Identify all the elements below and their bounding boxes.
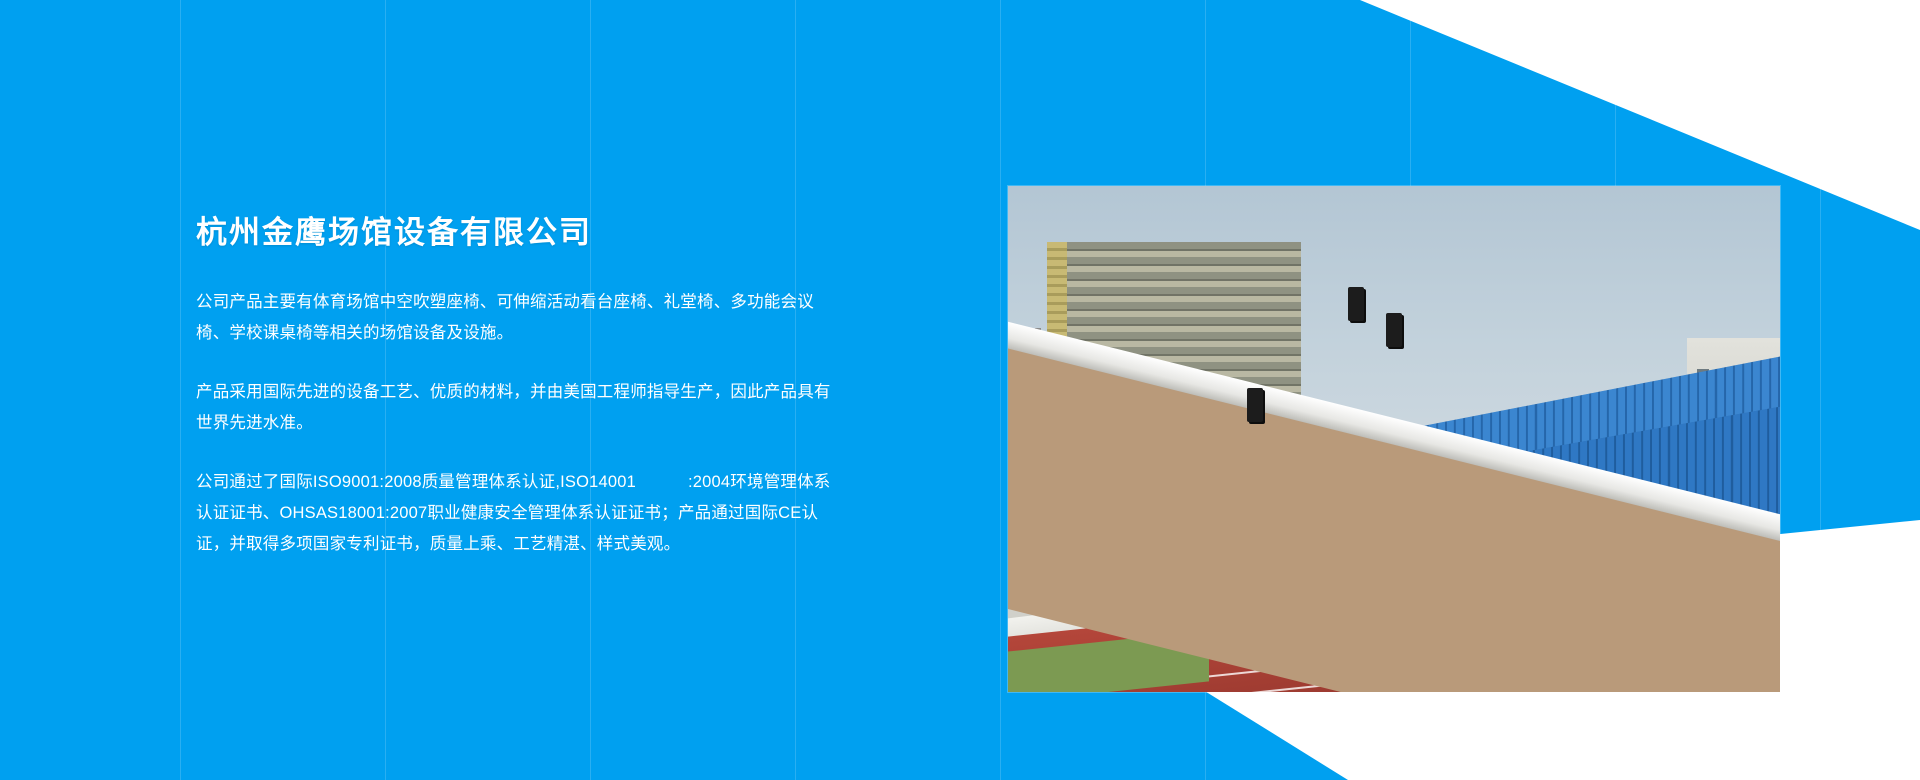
company-intro-banner: 杭州金鹰场馆设备有限公司 公司产品主要有体育场馆中空吹塑座椅、可伸缩活动看台座椅… [0,0,1920,780]
photo-speaker [1348,287,1364,321]
photo-speaker [1247,388,1263,422]
stadium-grandstand-photo [1008,186,1780,692]
certification-text-before-gap: 公司通过了国际ISO9001:2008质量管理体系认证,ISO14001 [196,473,636,491]
intro-paragraph-quality: 产品采用国际先进的设备工艺、优质的材料，并由美国工程师指导生产，因此产品具有世界… [196,377,836,439]
company-title: 杭州金鹰场馆设备有限公司 [196,214,836,251]
intro-text-block: 杭州金鹰场馆设备有限公司 公司产品主要有体育场馆中空吹塑座椅、可伸缩活动看台座椅… [196,214,836,560]
intro-paragraph-certifications: 公司通过了国际ISO9001:2008质量管理体系认证,ISO14001:200… [196,467,836,560]
intro-paragraph-products: 公司产品主要有体育场馆中空吹塑座椅、可伸缩活动看台座椅、礼堂椅、多功能会议椅、学… [196,287,836,349]
photo-speaker [1386,313,1402,347]
